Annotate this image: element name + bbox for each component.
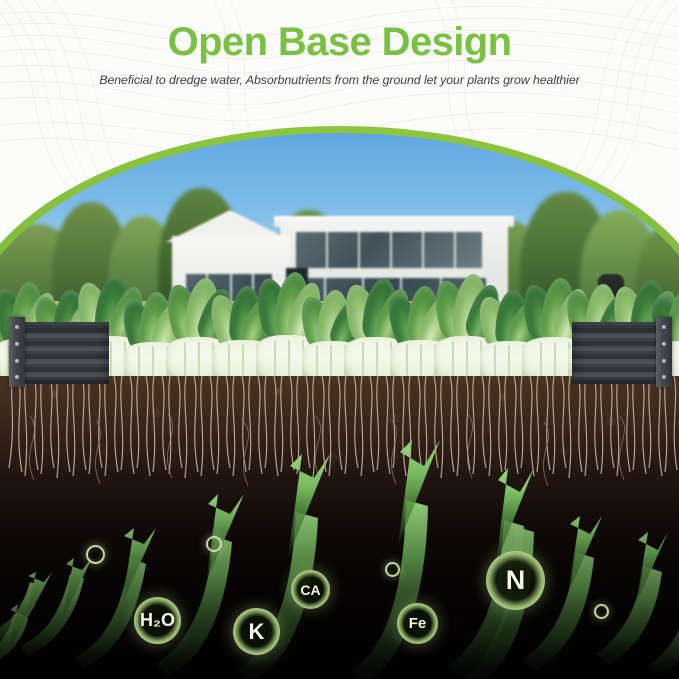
header: Open Base Design Beneficial to dredge wa…	[0, 0, 679, 132]
nutrient-ring-2	[206, 536, 222, 552]
scene-stage	[0, 126, 679, 679]
nutrient-flow-arrows	[0, 376, 679, 679]
nutrient-ring-4	[594, 604, 609, 619]
nutrient-bubble-label: H₂O	[140, 610, 175, 631]
planter-corner-post	[656, 317, 672, 387]
nutrient-bubble-n: N	[486, 551, 545, 610]
nutrient-bubble-label: Fe	[409, 615, 427, 632]
nutrient-bubble-label: K	[249, 619, 265, 645]
nutrient-bubble-label: N	[506, 565, 526, 596]
nutrient-ring-1	[86, 545, 105, 564]
nutrient-ring-3	[385, 562, 400, 577]
nutrient-bubble-label: CA	[300, 582, 320, 598]
open-base-design-infographic: Open Base Design Beneficial to dredge wa…	[0, 0, 679, 679]
nutrient-bubble-ca: CA	[291, 570, 330, 609]
garden-scene-photo	[0, 133, 679, 679]
nutrient-bubble-k: K	[233, 608, 280, 655]
raised-garden-bed-left	[10, 322, 109, 384]
raised-garden-bed-right	[572, 322, 671, 384]
page-title: Open Base Design	[0, 21, 679, 63]
planter-corner-post	[9, 317, 25, 387]
arc-photo-mask	[0, 133, 679, 679]
page-subtitle: Beneficial to dredge water, Absorbnutrie…	[0, 73, 679, 87]
nutrient-bubble-h2o: H₂O	[134, 597, 181, 644]
nutrient-bubble-fe: Fe	[397, 603, 438, 644]
